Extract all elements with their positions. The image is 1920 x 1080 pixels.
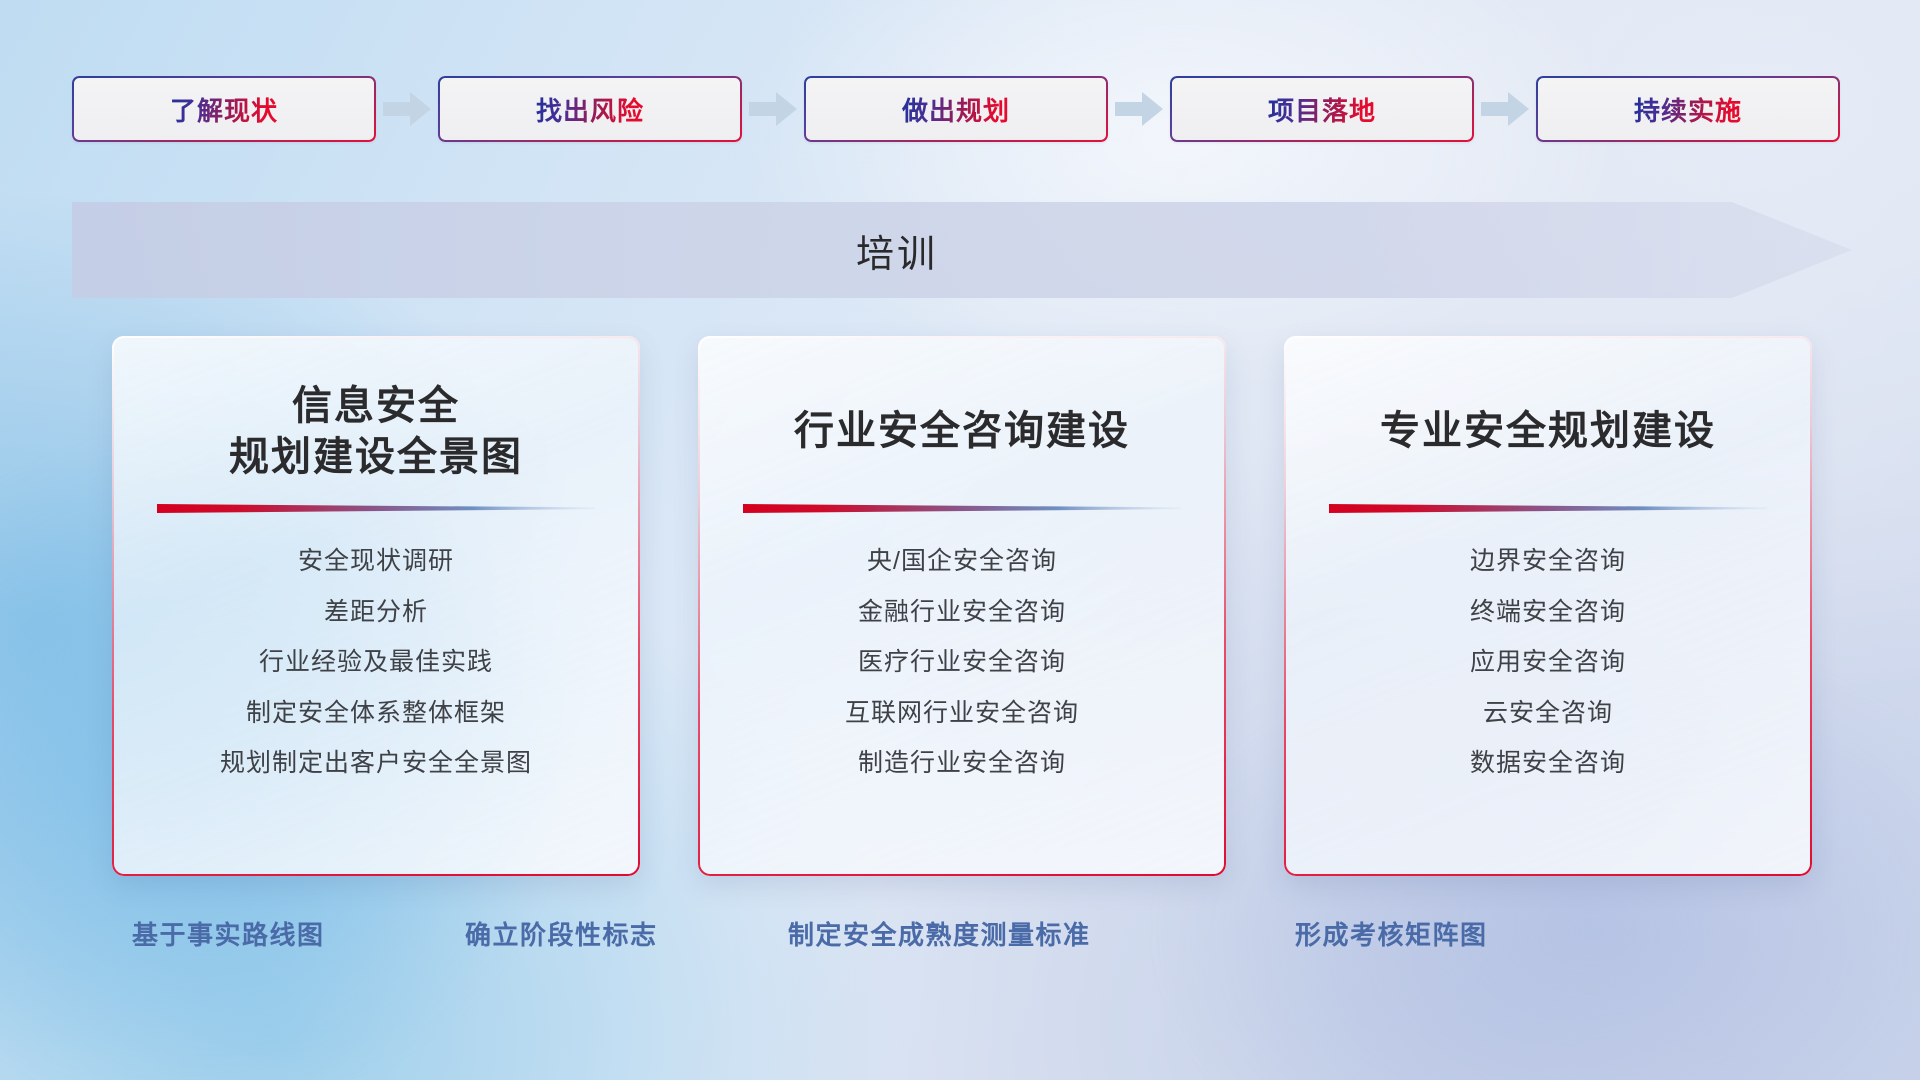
process-step-row: 了解现状 找出风险 做出规划 项目落地 [72,76,1848,142]
card-industry-security-consulting[interactable]: 行业安全咨询建设 央/国企安全咨询 [698,336,1226,876]
list-item: 金融行业安全咨询 [858,592,1066,633]
step-label-4: 项目落地 [1268,91,1376,128]
footnote-maturity-standard: 制定安全成熟度测量标准 [788,915,1091,952]
arrow-right-icon [742,89,804,129]
list-item: 制定安全体系整体框架 [246,693,506,734]
footnote-assessment-matrix: 形成考核矩阵图 [1295,915,1488,952]
arrow-right-icon [1474,89,1536,129]
card-divider-wedge [157,502,595,515]
step-box-3[interactable]: 做出规划 [804,76,1108,142]
list-item: 行业经验及最佳实践 [259,642,493,683]
list-item: 数据安全咨询 [1470,743,1626,784]
list-item: 央/国企安全咨询 [867,541,1057,582]
list-item: 云安全咨询 [1483,693,1613,734]
arrow-right-icon [376,89,438,129]
step-label-5: 持续实施 [1634,91,1742,128]
footnote-milestones: 确立阶段性标志 [465,915,658,952]
list-item: 互联网行业安全咨询 [845,693,1079,734]
card-title: 信息安全 规划建设全景图 [229,380,523,484]
list-item: 终端安全咨询 [1470,592,1626,633]
card-divider-wedge [743,502,1181,515]
footnote-row: 基于事实路线图 确立阶段性标志 制定安全成熟度测量标准 形成考核矩阵图 [0,915,1920,965]
list-item: 规划制定出客户安全全景图 [220,743,532,784]
card-item-list: 安全现状调研 差距分析 行业经验及最佳实践 制定安全体系整体框架 规划制定出客户… [138,541,614,784]
step-label-2: 找出风险 [536,91,644,128]
card-item-list: 边界安全咨询 终端安全咨询 应用安全咨询 云安全咨询 数据安全咨询 [1310,541,1786,784]
list-item: 制造行业安全咨询 [858,743,1066,784]
card-title: 专业安全规划建设 [1380,380,1716,484]
card-professional-security-planning[interactable]: 专业安全规划建设 边界安全咨询 [1284,336,1812,876]
step-label-3: 做出规划 [902,91,1010,128]
list-item: 差距分析 [324,592,428,633]
banner-title: 培训 [72,202,1722,298]
step-box-2[interactable]: 找出风险 [438,76,742,142]
list-item: 安全现状调研 [298,541,454,582]
list-item: 边界安全咨询 [1470,541,1626,582]
step-label-1: 了解现状 [170,91,278,128]
step-box-1[interactable]: 了解现状 [72,76,376,142]
step-box-4[interactable]: 项目落地 [1170,76,1474,142]
training-banner: 培训 [72,202,1852,298]
step-box-5[interactable]: 持续实施 [1536,76,1840,142]
card-divider-wedge [1329,502,1767,515]
cards-row: 信息安全 规划建设全景图 安全现状调研 [112,336,1812,876]
slide-stage: 了解现状 找出风险 做出规划 项目落地 [0,0,1920,1080]
arrow-right-icon [1108,89,1170,129]
footnote-roadmap: 基于事实路线图 [132,915,325,952]
card-information-security-blueprint[interactable]: 信息安全 规划建设全景图 安全现状调研 [112,336,640,876]
card-title: 行业安全咨询建设 [794,380,1130,484]
card-item-list: 央/国企安全咨询 金融行业安全咨询 医疗行业安全咨询 互联网行业安全咨询 制造行… [724,541,1200,784]
list-item: 应用安全咨询 [1470,642,1626,683]
list-item: 医疗行业安全咨询 [858,642,1066,683]
